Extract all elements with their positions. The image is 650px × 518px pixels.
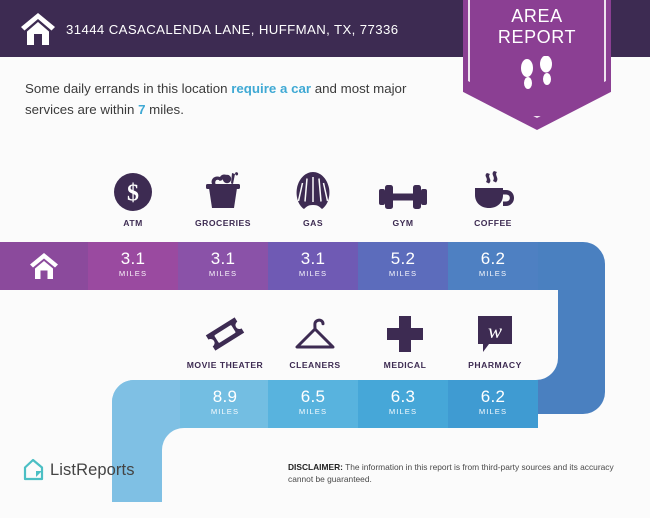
distance-cell-groceries: 3.1 MILES — [178, 242, 268, 290]
category-medical: MEDICAL — [360, 310, 450, 370]
distance-value: 6.2 — [448, 380, 538, 406]
category-label: GYM — [358, 218, 448, 228]
distance-cell-medical: 6.3 MILES — [358, 380, 448, 428]
category-label: MEDICAL — [360, 360, 450, 370]
distance-value: 8.9 — [180, 380, 270, 406]
category-icon-row-2: MOVIE THEATER CLEANERS MEDICAL — [180, 310, 540, 372]
distance-unit: MILES — [178, 269, 268, 278]
walgreens-w-icon: w — [450, 310, 540, 354]
ribbon-row2-lead — [112, 380, 180, 428]
category-gas: GAS — [268, 168, 358, 228]
distance-cell-movie-theater: 8.9 MILES — [180, 380, 270, 428]
category-label: CLEANERS — [270, 360, 360, 370]
distance-value: 6.3 — [358, 380, 448, 406]
ribbon-home-segment — [0, 242, 88, 290]
logo-text: ListReports — [50, 461, 135, 480]
intro-part-3: miles. — [145, 102, 183, 117]
badge-label: AREA REPORT — [463, 6, 611, 48]
distance-unit: MILES — [448, 269, 538, 278]
category-label: GROCERIES — [178, 218, 268, 228]
page-title: 31444 CASACALENDA LANE, HUFFMAN, TX, 773… — [66, 22, 398, 37]
category-movie-theater: MOVIE THEATER — [180, 310, 270, 370]
distance-unit: MILES — [180, 407, 270, 416]
distance-unit: MILES — [448, 407, 538, 416]
distance-cell-cleaners: 6.5 MILES — [268, 380, 358, 428]
distance-cell-pharmacy: 6.2 MILES — [448, 380, 538, 428]
category-label: MOVIE THEATER — [180, 360, 270, 370]
svg-text:w: w — [488, 319, 502, 343]
disclaimer: DISCLAIMER: The information in this repo… — [288, 462, 636, 485]
distance-value: 6.5 — [268, 380, 358, 406]
badge-line-2: REPORT — [463, 27, 611, 48]
distance-value: 3.1 — [268, 242, 358, 268]
area-report-infographic: 31444 CASACALENDA LANE, HUFFMAN, TX, 773… — [0, 0, 650, 502]
badge-line-1: AREA — [463, 6, 611, 27]
intro-highlight-1: require a car — [231, 81, 311, 96]
category-coffee: COFFEE — [448, 168, 538, 228]
distance-unit: MILES — [268, 407, 358, 416]
summary-text: Some daily errands in this location requ… — [25, 78, 445, 120]
clothes-hanger-icon — [270, 310, 360, 354]
category-cleaners: CLEANERS — [270, 310, 360, 370]
distance-cell-gym: 5.2 MILES — [358, 242, 448, 290]
footprints-icon — [515, 56, 559, 92]
dumbbell-icon — [358, 168, 448, 212]
disclaimer-label: DISCLAIMER: — [288, 462, 343, 472]
intro-part-1: Some daily errands in this location — [25, 81, 231, 96]
category-atm: $ ATM — [88, 168, 178, 228]
distance-value: 3.1 — [178, 242, 268, 268]
dollar-circle-icon: $ — [88, 168, 178, 212]
medical-cross-icon — [360, 310, 450, 354]
distance-cell-coffee: 6.2 MILES — [448, 242, 538, 290]
category-label: PHARMACY — [450, 360, 540, 370]
category-groceries: GROCERIES — [178, 168, 268, 228]
home-icon — [29, 252, 59, 280]
distance-cell-atm: 3.1 MILES — [88, 242, 178, 290]
area-report-badge: AREA REPORT — [463, 0, 611, 130]
distance-bar-row-2: 8.9 MILES 6.5 MILES 6.3 MILES 6.2 MILES — [112, 380, 605, 428]
distance-cell-gas: 3.1 MILES — [268, 242, 358, 290]
category-pharmacy: w PHARMACY — [450, 310, 540, 370]
category-gym: GYM — [358, 168, 448, 228]
home-icon — [20, 12, 56, 46]
category-label: COFFEE — [448, 218, 538, 228]
listreports-logo[interactable]: ListReports — [22, 458, 135, 482]
shell-gas-icon — [268, 168, 358, 212]
listreports-house-icon — [22, 458, 44, 482]
category-label: ATM — [88, 218, 178, 228]
distance-value: 5.2 — [358, 242, 448, 268]
grocery-basket-icon — [178, 168, 268, 212]
distance-bar-row-1: 3.1 MILES 3.1 MILES 3.1 MILES 5.2 MILES … — [0, 242, 605, 290]
svg-text:$: $ — [127, 181, 139, 207]
movie-ticket-icon — [180, 310, 270, 354]
distance-unit: MILES — [88, 269, 178, 278]
distance-value: 6.2 — [448, 242, 538, 268]
category-icon-row-1: $ ATM — [88, 168, 538, 234]
distance-unit: MILES — [358, 269, 448, 278]
coffee-cup-icon — [448, 168, 538, 212]
distance-value: 3.1 — [88, 242, 178, 268]
distance-unit: MILES — [268, 269, 358, 278]
distance-unit: MILES — [358, 407, 448, 416]
category-label: GAS — [268, 218, 358, 228]
